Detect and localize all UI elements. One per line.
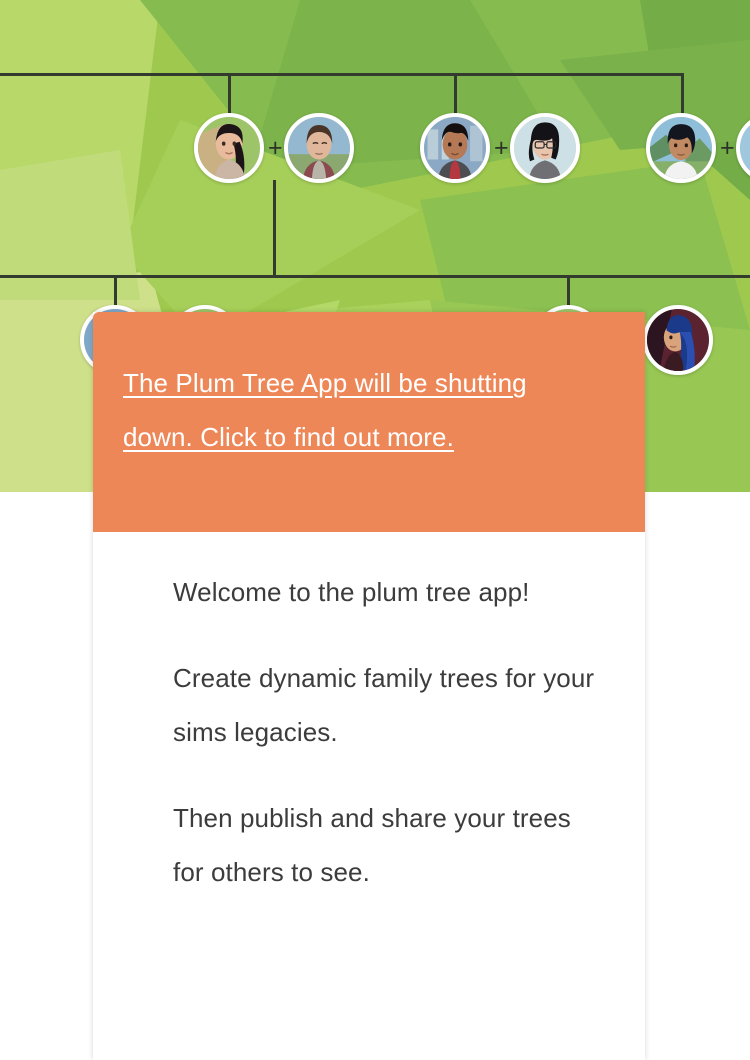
union-symbol-couple-1: + (268, 136, 283, 161)
avatar-sim-brown-hair-male[interactable] (284, 113, 354, 183)
avatar-portrait (198, 117, 260, 179)
panel-body: Welcome to the plum tree app! Create dyn… (93, 533, 645, 1060)
avatar-portrait (650, 117, 712, 179)
union-symbol-couple-3: + (720, 136, 735, 161)
shutdown-notice-link[interactable]: The Plum Tree App will be shutting down.… (123, 356, 585, 464)
tree-edge-drop-2 (454, 73, 457, 115)
avatar-sim-glasses-bob-female[interactable] (510, 113, 580, 183)
tree-edge-drop-3 (681, 73, 684, 115)
avatar-sim-blue-hair-female[interactable] (643, 305, 713, 375)
shutdown-banner[interactable]: The Plum Tree App will be shutting down.… (93, 312, 645, 532)
union-symbol-couple-2: + (494, 136, 509, 161)
avatar-portrait (647, 309, 709, 371)
info-panel: The Plum Tree App will be shutting down.… (93, 312, 645, 1060)
avatar-portrait (424, 117, 486, 179)
avatar-sim-short-black-hair-female[interactable] (646, 113, 716, 183)
publish-paragraph: Then publish and share your trees for ot… (173, 791, 605, 899)
avatar-portrait (288, 117, 350, 179)
tree-edge-couple1-down (273, 180, 276, 277)
avatar-sim-dark-long-hair-female[interactable] (194, 113, 264, 183)
avatar-sim-black-curly-hair-male[interactable] (420, 113, 490, 183)
create-paragraph: Create dynamic family trees for your sim… (173, 651, 605, 759)
tree-edge-mid-horizontal (0, 275, 750, 278)
tree-edge-top-horizontal (0, 73, 684, 76)
avatar-portrait (514, 117, 576, 179)
tree-edge-drop-1 (228, 73, 231, 115)
welcome-paragraph: Welcome to the plum tree app! (173, 565, 605, 619)
